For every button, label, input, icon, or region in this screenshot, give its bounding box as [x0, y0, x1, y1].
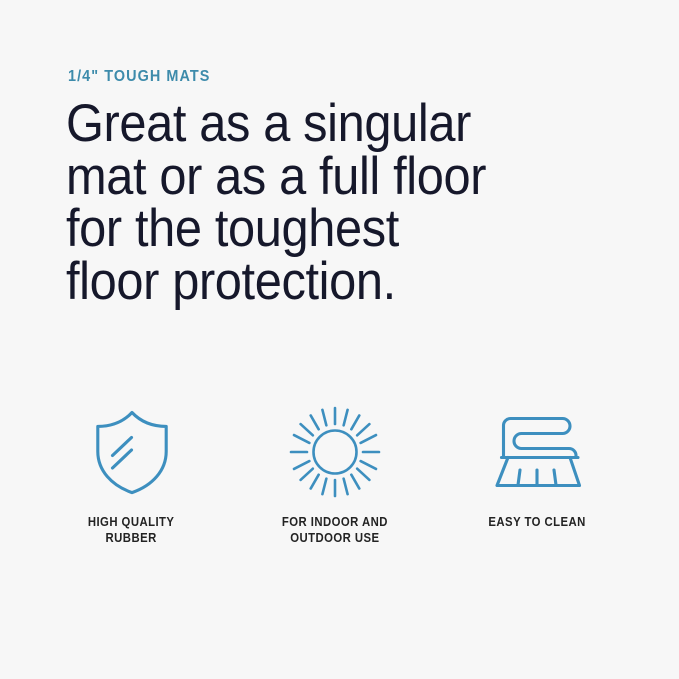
- headline-line-3: for the toughest: [66, 203, 526, 256]
- page-title: Great as a singular mat or as a full flo…: [66, 98, 526, 308]
- feature-item-indoor-outdoor: FOR INDOOR AND OUTDOOR USE: [233, 404, 436, 546]
- eyebrow-kicker: 1/4" TOUGH MATS: [68, 68, 210, 86]
- shield-icon: [90, 404, 174, 500]
- product-feature-card: 1/4" TOUGH MATS Great as a singular mat …: [0, 0, 679, 679]
- headline-line-4: floor protection.: [66, 256, 526, 309]
- feature-label: HIGH QUALITY RUBBER: [88, 514, 175, 546]
- feature-list: HIGH QUALITY RUBBER: [30, 404, 650, 546]
- headline-line-1: Great as a singular: [66, 98, 526, 151]
- sun-icon: [287, 404, 383, 500]
- scrub-brush-icon: [490, 404, 586, 500]
- headline-line-2: mat or as a full floor: [66, 151, 526, 204]
- feature-item-high-quality-rubber: HIGH QUALITY RUBBER: [30, 404, 233, 546]
- feature-item-easy-to-clean: EASY TO CLEAN: [436, 404, 639, 530]
- feature-label: FOR INDOOR AND OUTDOOR USE: [281, 514, 387, 546]
- feature-label: EASY TO CLEAN: [489, 514, 586, 530]
